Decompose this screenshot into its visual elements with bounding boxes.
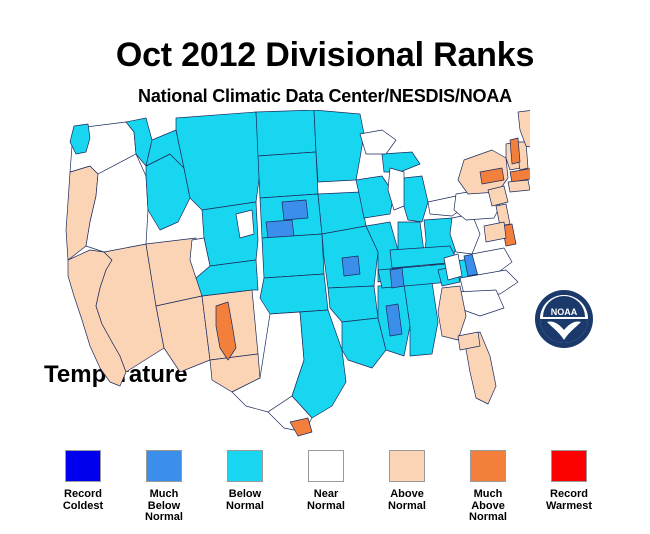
legend-item-0: Record Coldest xyxy=(37,450,129,512)
legend-label-above-normal: Above Normal xyxy=(361,489,453,512)
legend-item-4: Above Normal xyxy=(361,450,453,512)
region-oklahoma xyxy=(260,274,328,314)
legend-item-2: Below Normal xyxy=(199,450,291,512)
legend-swatch-much-above-normal xyxy=(470,450,506,482)
region-missouri-much-below xyxy=(342,256,360,276)
region-west-virginia xyxy=(450,214,480,254)
legend-item-6: Record Warmest xyxy=(523,450,615,512)
legend-swatch-record-warmest xyxy=(551,450,587,482)
region-minnesota xyxy=(314,110,364,182)
region-maryland xyxy=(484,222,506,242)
region-arizona xyxy=(156,296,210,372)
region-nebraska-much-below-b xyxy=(266,220,294,238)
region-arkansas xyxy=(328,286,378,322)
legend-label-record-coldest: Record Coldest xyxy=(37,489,129,512)
legend-item-3: Near Normal xyxy=(280,450,372,512)
legend-label-much-above-normal: Much Above Normal xyxy=(442,489,534,524)
region-pa-northeast-peach xyxy=(488,186,508,206)
page-title: Oct 2012 Divisional Ranks xyxy=(0,36,650,75)
legend-label-record-warmest: Record Warmest xyxy=(523,489,615,512)
legend-item-1: Much Below Normal xyxy=(118,450,210,524)
legend-swatch-much-below-normal xyxy=(146,450,182,482)
legend: Record Coldest Much Below Normal Below N… xyxy=(0,450,650,534)
region-kansas xyxy=(262,234,324,278)
region-great-lakes-water xyxy=(360,130,396,154)
noaa-logo: NOAA xyxy=(533,288,595,350)
legend-label-near-normal: Near Normal xyxy=(280,489,372,512)
noaa-logo-text: NOAA xyxy=(551,307,578,317)
legend-label-below-normal: Below Normal xyxy=(199,489,291,512)
region-georgia xyxy=(438,286,466,340)
region-michigan-lower xyxy=(402,176,428,222)
region-louisiana xyxy=(342,318,386,368)
region-connecticut xyxy=(508,180,530,192)
legend-swatch-below-normal xyxy=(227,450,263,482)
region-north-dakota xyxy=(256,110,316,156)
region-nebraska-much-below-a xyxy=(282,200,308,220)
region-alabama xyxy=(404,282,438,356)
page-subtitle: National Climatic Data Center/NESDIS/NOA… xyxy=(0,86,650,107)
region-illinois-much-below xyxy=(390,268,404,288)
climate-map-page: Oct 2012 Divisional Ranks National Clima… xyxy=(0,0,650,534)
region-south-dakota xyxy=(258,152,318,198)
legend-label-much-below-normal: Much Below Normal xyxy=(118,489,210,524)
legend-item-5: Much Above Normal xyxy=(442,450,534,524)
region-vermont-strip-much-above xyxy=(510,138,520,164)
us-divisional-map xyxy=(60,110,530,440)
region-michigan-upper xyxy=(382,152,420,172)
legend-swatch-near-normal xyxy=(308,450,344,482)
legend-swatch-above-normal xyxy=(389,450,425,482)
legend-swatch-record-coldest xyxy=(65,450,101,482)
